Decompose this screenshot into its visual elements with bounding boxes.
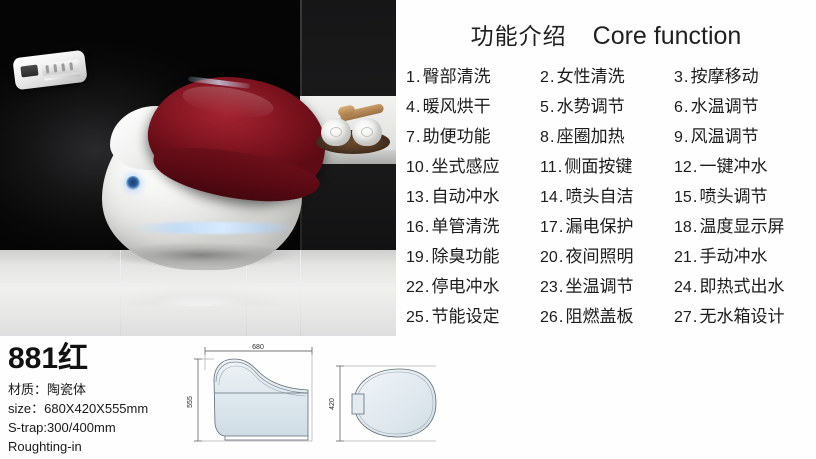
feature-number-separator: . (425, 187, 430, 207)
feature-number-separator: . (425, 247, 430, 267)
feature-label: 节能设定 (432, 302, 500, 327)
feature-label: 即热式出水 (700, 272, 785, 297)
remote-button (53, 64, 57, 72)
feature-number: 20 (540, 249, 558, 267)
feature-label: 水温调节 (691, 92, 759, 117)
heading-english: Core function (593, 22, 742, 51)
rolled-towel (352, 118, 382, 146)
rolled-towel (321, 118, 351, 146)
feature-number-separator: . (416, 67, 421, 87)
feature-number-separator: . (559, 307, 564, 327)
feature-number-separator: . (693, 277, 698, 297)
feature-item: 20.夜间照明 (540, 242, 674, 267)
technical-drawings: 680 555 420 (168, 340, 448, 459)
feature-number: 6 (674, 99, 683, 117)
feature-item: 16.单管清洗 (406, 212, 540, 237)
feature-number: 22 (406, 279, 424, 297)
feature-item: 2.女性清洗 (540, 62, 674, 87)
feature-number-separator: . (693, 307, 698, 327)
feature-item: 7.助便功能 (406, 122, 540, 147)
feature-label: 单管清洗 (432, 212, 500, 237)
feature-number: 10 (406, 159, 424, 177)
feature-list-heading: 功能介绍 Core function (396, 0, 816, 51)
feature-number: 17 (540, 219, 558, 237)
feature-grid: 1.臀部清洗2.女性清洗3.按摩移动4.暖风烘干5.水势调节6.水温调节7.助便… (396, 62, 816, 327)
feature-number: 26 (540, 309, 558, 327)
feature-label: 风温调节 (691, 122, 759, 147)
towel-roll-swirl (361, 127, 373, 137)
feature-number-separator: . (684, 67, 689, 87)
feature-number-separator: . (559, 187, 564, 207)
feature-number: 14 (540, 189, 558, 207)
feature-label: 臀部清洗 (423, 62, 491, 87)
feature-number-separator: . (425, 277, 430, 297)
drawings-svg: 680 555 420 (168, 340, 448, 459)
feature-number-separator: . (693, 217, 698, 237)
feature-label: 夜间照明 (566, 242, 634, 267)
feature-number: 2 (540, 69, 549, 87)
feature-item: 19.除臭功能 (406, 242, 540, 267)
remote-button (69, 62, 73, 70)
remote-display-screen (20, 65, 38, 78)
side-view-width-label: 680 (252, 344, 264, 351)
product-photo-panel (0, 0, 396, 336)
feature-number: 1 (406, 69, 415, 87)
feature-label: 除臭功能 (432, 242, 500, 267)
feature-number-separator: . (416, 127, 421, 147)
feature-number: 18 (674, 219, 692, 237)
feature-label: 阻燃盖板 (566, 302, 634, 327)
feature-item: 3.按摩移动 (674, 62, 808, 87)
feature-item: 21.手动冲水 (674, 242, 808, 267)
feature-number-separator: . (550, 97, 555, 117)
feature-number: 21 (674, 249, 692, 267)
remote-button (61, 63, 65, 71)
feature-item: 10.坐式感应 (406, 152, 540, 177)
smart-toilet (96, 66, 326, 270)
feature-list-panel: 功能介绍 Core function 1.臀部清洗2.女性清洗3.按摩移动4.暖… (396, 0, 816, 336)
feature-number: 11 (540, 159, 557, 177)
feature-label: 一键冲水 (700, 152, 768, 177)
feature-number: 19 (406, 249, 424, 267)
feature-number: 23 (540, 279, 558, 297)
feature-item: 15.喷头调节 (674, 182, 808, 207)
feature-label: 喷头调节 (700, 182, 768, 207)
feature-number-separator: . (559, 217, 564, 237)
feature-item: 24.即热式出水 (674, 272, 808, 297)
feature-item: 4.暖风烘干 (406, 92, 540, 117)
feature-number-separator: . (425, 217, 430, 237)
feature-item: 27.无水箱设计 (674, 302, 808, 327)
feature-item: 5.水势调节 (540, 92, 674, 117)
feature-label: 座圈加热 (557, 122, 625, 147)
feature-item: 13.自动冲水 (406, 182, 540, 207)
feature-label: 坐式感应 (432, 152, 500, 177)
feature-number: 24 (674, 279, 692, 297)
feature-label: 喷头自洁 (566, 182, 634, 207)
feature-label: 助便功能 (423, 122, 491, 147)
feature-number: 5 (540, 99, 549, 117)
feature-label: 手动冲水 (700, 242, 768, 267)
feature-label: 温度显示屏 (700, 212, 785, 237)
feature-number-separator: . (693, 247, 698, 267)
feature-number: 27 (674, 309, 692, 327)
feature-label: 女性清洗 (557, 62, 625, 87)
feature-number-separator: . (425, 307, 430, 327)
feature-number-separator: . (550, 67, 555, 87)
feature-number-separator: . (693, 187, 698, 207)
toilet-floor-reflection (102, 262, 298, 306)
feature-item: 17.漏电保护 (540, 212, 674, 237)
feature-number-separator: . (550, 127, 555, 147)
feature-label: 暖风烘干 (423, 92, 491, 117)
feature-label: 漏电保护 (566, 212, 634, 237)
side-view-drawing: 680 555 (187, 344, 312, 441)
feature-number: 8 (540, 129, 549, 147)
towel-roll-swirl (330, 127, 342, 137)
feature-label: 坐温调节 (566, 272, 634, 297)
feature-item: 26.阻燃盖板 (540, 302, 674, 327)
feature-number: 16 (406, 219, 424, 237)
feature-label: 侧面按键 (564, 152, 632, 177)
feature-number: 9 (674, 129, 683, 147)
remote-button (45, 65, 49, 73)
feature-number-separator: . (425, 157, 430, 177)
feature-item: 23.坐温调节 (540, 272, 674, 297)
feature-number-separator: . (559, 277, 564, 297)
feature-item: 22.停电冲水 (406, 272, 540, 297)
feature-item: 14.喷头自洁 (540, 182, 674, 207)
feature-number-separator: . (558, 157, 563, 177)
toilet-side-button (126, 176, 140, 190)
feature-label: 无水箱设计 (700, 302, 785, 327)
feature-item: 9.风温调节 (674, 122, 808, 147)
top-view-width-label: 420 (329, 398, 336, 410)
feature-number-separator: . (559, 247, 564, 267)
top-view-drawing: 420 (329, 366, 436, 441)
feature-number-separator: . (693, 157, 698, 177)
toilet-base-led-strip (130, 222, 298, 234)
feature-item: 6.水温调节 (674, 92, 808, 117)
feature-item: 12.一键冲水 (674, 152, 808, 177)
feature-item: 8.座圈加热 (540, 122, 674, 147)
feature-number: 7 (406, 129, 415, 147)
feature-number: 13 (406, 189, 424, 207)
feature-number: 15 (674, 189, 692, 207)
feature-label: 自动冲水 (432, 182, 500, 207)
feature-number: 3 (674, 69, 683, 87)
heading-chinese: 功能介绍 (471, 17, 567, 51)
feature-item: 1.臀部清洗 (406, 62, 540, 87)
feature-number: 25 (406, 309, 424, 327)
feature-item: 25.节能设定 (406, 302, 540, 327)
feature-label: 按摩移动 (691, 62, 759, 87)
feature-label: 停电冲水 (432, 272, 500, 297)
feature-label: 水势调节 (557, 92, 625, 117)
feature-number-separator: . (684, 97, 689, 117)
feature-number: 4 (406, 99, 415, 117)
feature-item: 18.温度显示屏 (674, 212, 808, 237)
feature-item: 11.侧面按键 (540, 152, 674, 177)
rolled-towels-on-rattan-mat (316, 106, 392, 156)
feature-number: 12 (674, 159, 692, 177)
side-view-height-label: 555 (187, 396, 194, 408)
feature-number-separator: . (416, 97, 421, 117)
feature-number-separator: . (684, 127, 689, 147)
